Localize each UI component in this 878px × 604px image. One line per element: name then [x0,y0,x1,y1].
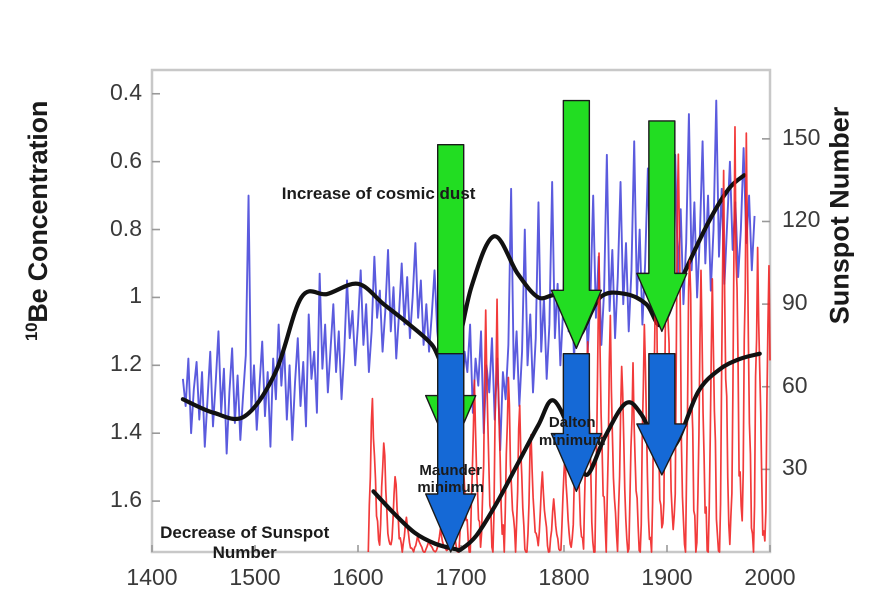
y-axis-left-tick-1.6: 1.6 [60,486,142,513]
x-axis-tick-1400: 1400 [97,564,207,591]
annotation-line-1: Dalton [457,414,687,431]
y-axis-right-tick-120: 120 [782,206,842,233]
annotation-increase-cosmic-dust: Increase of cosmic dust [264,184,494,204]
y-axis-left-tick-1.2: 1.2 [60,350,142,377]
y-axis-left-tick-1.4: 1.4 [60,418,142,445]
x-axis-tick-1900: 1900 [612,564,722,591]
chart-figure: 10Be Concentration Sunspot Number Solar … [0,0,878,604]
annotation-line-2: minimum [336,479,566,496]
y-axis-left-tick-1: 1 [60,282,142,309]
x-axis-tick-1600: 1600 [303,564,413,591]
y-axis-right-tick-90: 90 [782,289,842,316]
annotation-line-1: Decrease of Sunspot [130,523,360,543]
x-axis-tick-1800: 1800 [509,564,619,591]
y-axis-right-tick-60: 60 [782,372,842,399]
y-axis-right-tick-150: 150 [782,124,842,151]
x-axis-tick-2000: 2000 [715,564,825,591]
y-axis-right-tick-30: 30 [782,454,842,481]
y-axis-left-tick-0.6: 0.6 [60,147,142,174]
y-axis-left-tick-0.4: 0.4 [60,79,142,106]
x-axis-tick-1700: 1700 [406,564,516,591]
x-axis-tick-1500: 1500 [200,564,310,591]
annotation-dalton-minimum: Daltonminimum [457,414,687,449]
annotation-decrease-sunspot-number: Decrease of SunspotNumber [130,523,360,562]
annotation-line-2: minimum [457,432,687,449]
annotation-line-2: Number [130,543,360,563]
annotation-maunder-minimum: Maunderminimum [336,462,566,497]
annotation-line-1: Maunder [336,462,566,479]
y-axis-left-tick-0.8: 0.8 [60,215,142,242]
